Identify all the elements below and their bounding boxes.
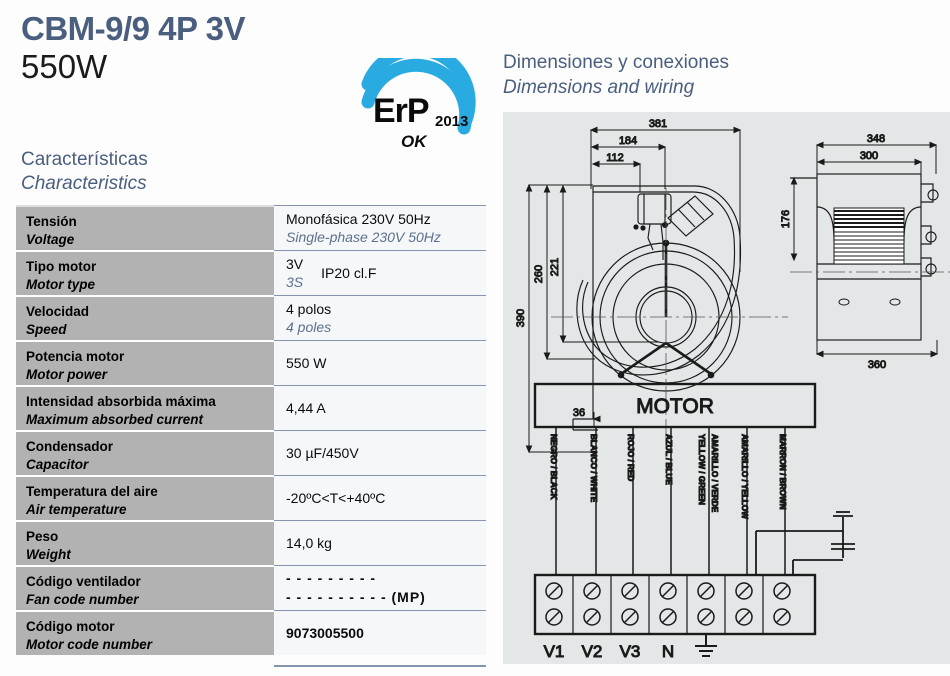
earth-symbol-icon (833, 512, 853, 531)
row-label-voltage: Tensión Voltage (16, 205, 274, 250)
dim-label-348: 348 (867, 133, 885, 145)
row-label-en: Maximum absorbed current (26, 411, 274, 428)
table-row: Peso Weight 14,0 kg (16, 520, 486, 565)
side-view-impeller-blades (834, 208, 904, 264)
table-row: Condensador Capacitor 30 µF/450V (16, 430, 486, 475)
dim-mid-height-260: 260 (533, 186, 595, 359)
dim-label-184: 184 (619, 135, 637, 147)
dim-label-360: 360 (868, 359, 886, 371)
row-label-es: Velocidad (26, 303, 274, 320)
erp-badge: ErP 2013 OK (344, 58, 486, 180)
side-view-mount-holes (839, 299, 900, 305)
dim-label-260: 260 (533, 265, 545, 283)
row-value-speed: 4 polos 4 poles (274, 295, 486, 340)
connector-strip (668, 196, 713, 236)
dim-label-381: 381 (649, 118, 667, 130)
dim-label-112: 112 (606, 152, 624, 164)
dim-label-300: 300 (860, 150, 878, 162)
row-value-motor-type: 3V 3S IP20 cl.F (274, 250, 486, 295)
row-value-en: Single-phase 230V 50Hz (286, 228, 486, 246)
wire-label-brown: MARRON / BROWN (778, 434, 787, 510)
table-row: Código motor Motor code number 907300550… (16, 610, 486, 655)
dimensions-heading-en: Dimensions and wiring (503, 76, 729, 101)
row-label-motor-type: Tipo motor Motor type (16, 250, 274, 295)
wire-label-yellow-green: YELLOW / GREEN (697, 434, 706, 505)
fan-housing-outline (573, 186, 741, 430)
drawings-panel: 381 184 (503, 112, 950, 664)
row-value-es: 3V (286, 255, 303, 273)
terminal-label-v1: V1 (544, 642, 565, 661)
erp-mark-label: ErP (373, 94, 429, 128)
row-label-es: Tensión (26, 213, 274, 230)
wire-label-amarillo-verde: AMARILLO / VERDE (710, 434, 719, 513)
dim-label-390: 390 (515, 309, 527, 327)
row-label-es: Potencia motor (26, 348, 274, 365)
wire-label-white: BLANCO / WHITE (589, 434, 598, 503)
row-label-en: Speed (26, 321, 274, 338)
row-label-en: Motor code number (26, 636, 274, 653)
wiring-diagram: MOTOR NEGRO / BLACK BLANCO / (535, 384, 855, 661)
row-value-motor-power: 550 W (274, 340, 486, 385)
row-label-motor-power: Potencia motor Motor power (16, 340, 274, 385)
row-value: 4,44 A (286, 400, 486, 416)
row-value: 14,0 kg (286, 535, 486, 551)
dim-label-36: 36 (573, 407, 585, 419)
row-value-motor-code: 9073005500 (274, 610, 486, 655)
erp-year-label: 2013 (435, 113, 468, 130)
dim-side-height-176: 176 (780, 178, 815, 260)
page-title: CBM-9/9 4P 3V (21, 12, 245, 45)
terminal-label-v2: V2 (582, 642, 603, 661)
row-value-en: 4 poles (286, 318, 486, 336)
ground-symbol-icon (695, 634, 717, 656)
erp-ok-label: OK (401, 132, 427, 152)
terminal-screws (546, 583, 790, 625)
table-row: Velocidad Speed 4 polos 4 poles (16, 295, 486, 340)
row-value-fan-code: - - - - - - - - - - - - - - - - - - - (M… (274, 565, 486, 610)
row-label-en: Motor power (26, 366, 274, 383)
row-label-motor-code: Código motor Motor code number (16, 610, 274, 655)
row-value: 550 W (286, 355, 486, 371)
row-label-max-current: Intensidad absorbida máxima Maximum abso… (16, 385, 274, 430)
datasheet-page: CBM-9/9 4P 3V 550W ErP 2013 OK Caracterí… (0, 0, 950, 676)
characteristics-heading-en: Characteristics (21, 172, 148, 196)
row-value-en: 3S (286, 273, 303, 291)
row-value-dashes-line2: - - - - - - - - - - (MP) (286, 588, 486, 607)
dimensions-column: Dimensiones y conexiones Dimensions and … (495, 0, 950, 676)
row-value-dashes-line1: - - - - - - - - - (286, 569, 486, 588)
wire-label-red: ROJO / RED (626, 434, 635, 481)
row-label-es: Temperatura del aire (26, 483, 274, 500)
row-label-es: Código motor (26, 618, 274, 635)
row-label-es: Intensidad absorbida máxima (26, 393, 274, 410)
row-value-es: Monofásica 230V 50Hz (286, 210, 486, 228)
table-row: Potencia motor Motor power 550 W (16, 340, 486, 385)
row-value-air-temperature: -20ºC<T<+40ºC (274, 475, 486, 520)
terminal-label-n: N (662, 642, 674, 661)
row-value-max-current: 4,44 A (274, 385, 486, 430)
dim-foot-offset-36: 36 (573, 407, 600, 427)
dim-inner-width-184: 184 (592, 135, 665, 189)
row-label-es: Tipo motor (26, 258, 274, 275)
row-label-speed: Velocidad Speed (16, 295, 274, 340)
row-label-weight: Peso Weight (16, 520, 274, 565)
dimensions-heading-es: Dimensiones y conexiones (503, 51, 729, 76)
row-label-en: Weight (26, 546, 274, 563)
dim-label-176: 176 (780, 210, 792, 228)
row-label-en: Air temperature (26, 501, 274, 518)
row-label-capacitor: Condensador Capacitor (16, 430, 274, 475)
characteristics-heading-es: Características (21, 148, 148, 172)
wire-label-black: NEGRO / BLACK (549, 434, 558, 500)
row-label-en: Voltage (26, 231, 274, 248)
specifications-table: Tensión Voltage Monofásica 230V 50Hz Sin… (16, 205, 486, 655)
row-value: 9073005500 (286, 625, 486, 641)
side-view-motor-mounts (921, 184, 938, 276)
side-view-drawing: 348 300 (780, 133, 950, 371)
table-row: Intensidad absorbida máxima Maximum abso… (16, 385, 486, 430)
capacitor-wiring (756, 531, 855, 575)
motor-box-label: MOTOR (636, 395, 714, 418)
row-value-capacitor: 30 µF/450V (274, 430, 486, 475)
wire-labels: NEGRO / BLACK BLANCO / WHITE ROJO / RED … (549, 434, 787, 519)
dim-side-base-360: 360 (817, 340, 937, 371)
row-label-en: Motor type (26, 276, 274, 293)
wire-label-blue: AZUL / BLUE (664, 434, 673, 485)
dim-upper-height-221: 221 (549, 186, 658, 342)
row-value-weight: 14,0 kg (274, 520, 486, 565)
row-label-air-temperature: Temperatura del aire Air temperature (16, 475, 274, 520)
table-row: Tipo motor Motor type 3V 3S IP20 cl.F (16, 250, 486, 295)
row-value-protection: IP20 cl.F (321, 265, 376, 281)
specifications-column: CBM-9/9 4P 3V 550W ErP 2013 OK Caracterí… (0, 0, 495, 676)
table-row: Tensión Voltage Monofásica 230V 50Hz Sin… (16, 205, 486, 250)
row-label-es: Condensador (26, 438, 274, 455)
wire-label-amarillo-yellow: AMARILLO / YELLOW (740, 434, 749, 519)
row-label-en: Capacitor (26, 456, 274, 473)
table-row: Código ventilador Fan code number - - - … (16, 565, 486, 610)
terminal-block (535, 575, 815, 634)
row-value: 30 µF/450V (286, 445, 486, 461)
model-power: 550W (21, 50, 107, 83)
row-label-es: Código ventilador (26, 573, 274, 590)
characteristics-heading: Características Characteristics (21, 148, 148, 196)
row-label-en: Fan code number (26, 591, 274, 608)
row-value: -20ºC<T<+40ºC (286, 490, 486, 506)
dim-side-body-300: 300 (818, 150, 921, 174)
terminal-labels: V1 V2 V3 N (544, 642, 675, 661)
dimensions-heading: Dimensiones y conexiones Dimensions and … (503, 51, 729, 100)
row-label-es: Peso (26, 528, 274, 545)
terminal-label-v3: V3 (620, 642, 641, 661)
table-bottom-rule (274, 665, 486, 667)
row-value-es: 4 polos (286, 300, 486, 318)
dim-label-221: 221 (549, 258, 561, 276)
row-value-voltage: Monofásica 230V 50Hz Single-phase 230V 5… (274, 205, 486, 250)
row-label-fan-code: Código ventilador Fan code number (16, 565, 274, 610)
table-row: Temperatura del aire Air temperature -20… (16, 475, 486, 520)
